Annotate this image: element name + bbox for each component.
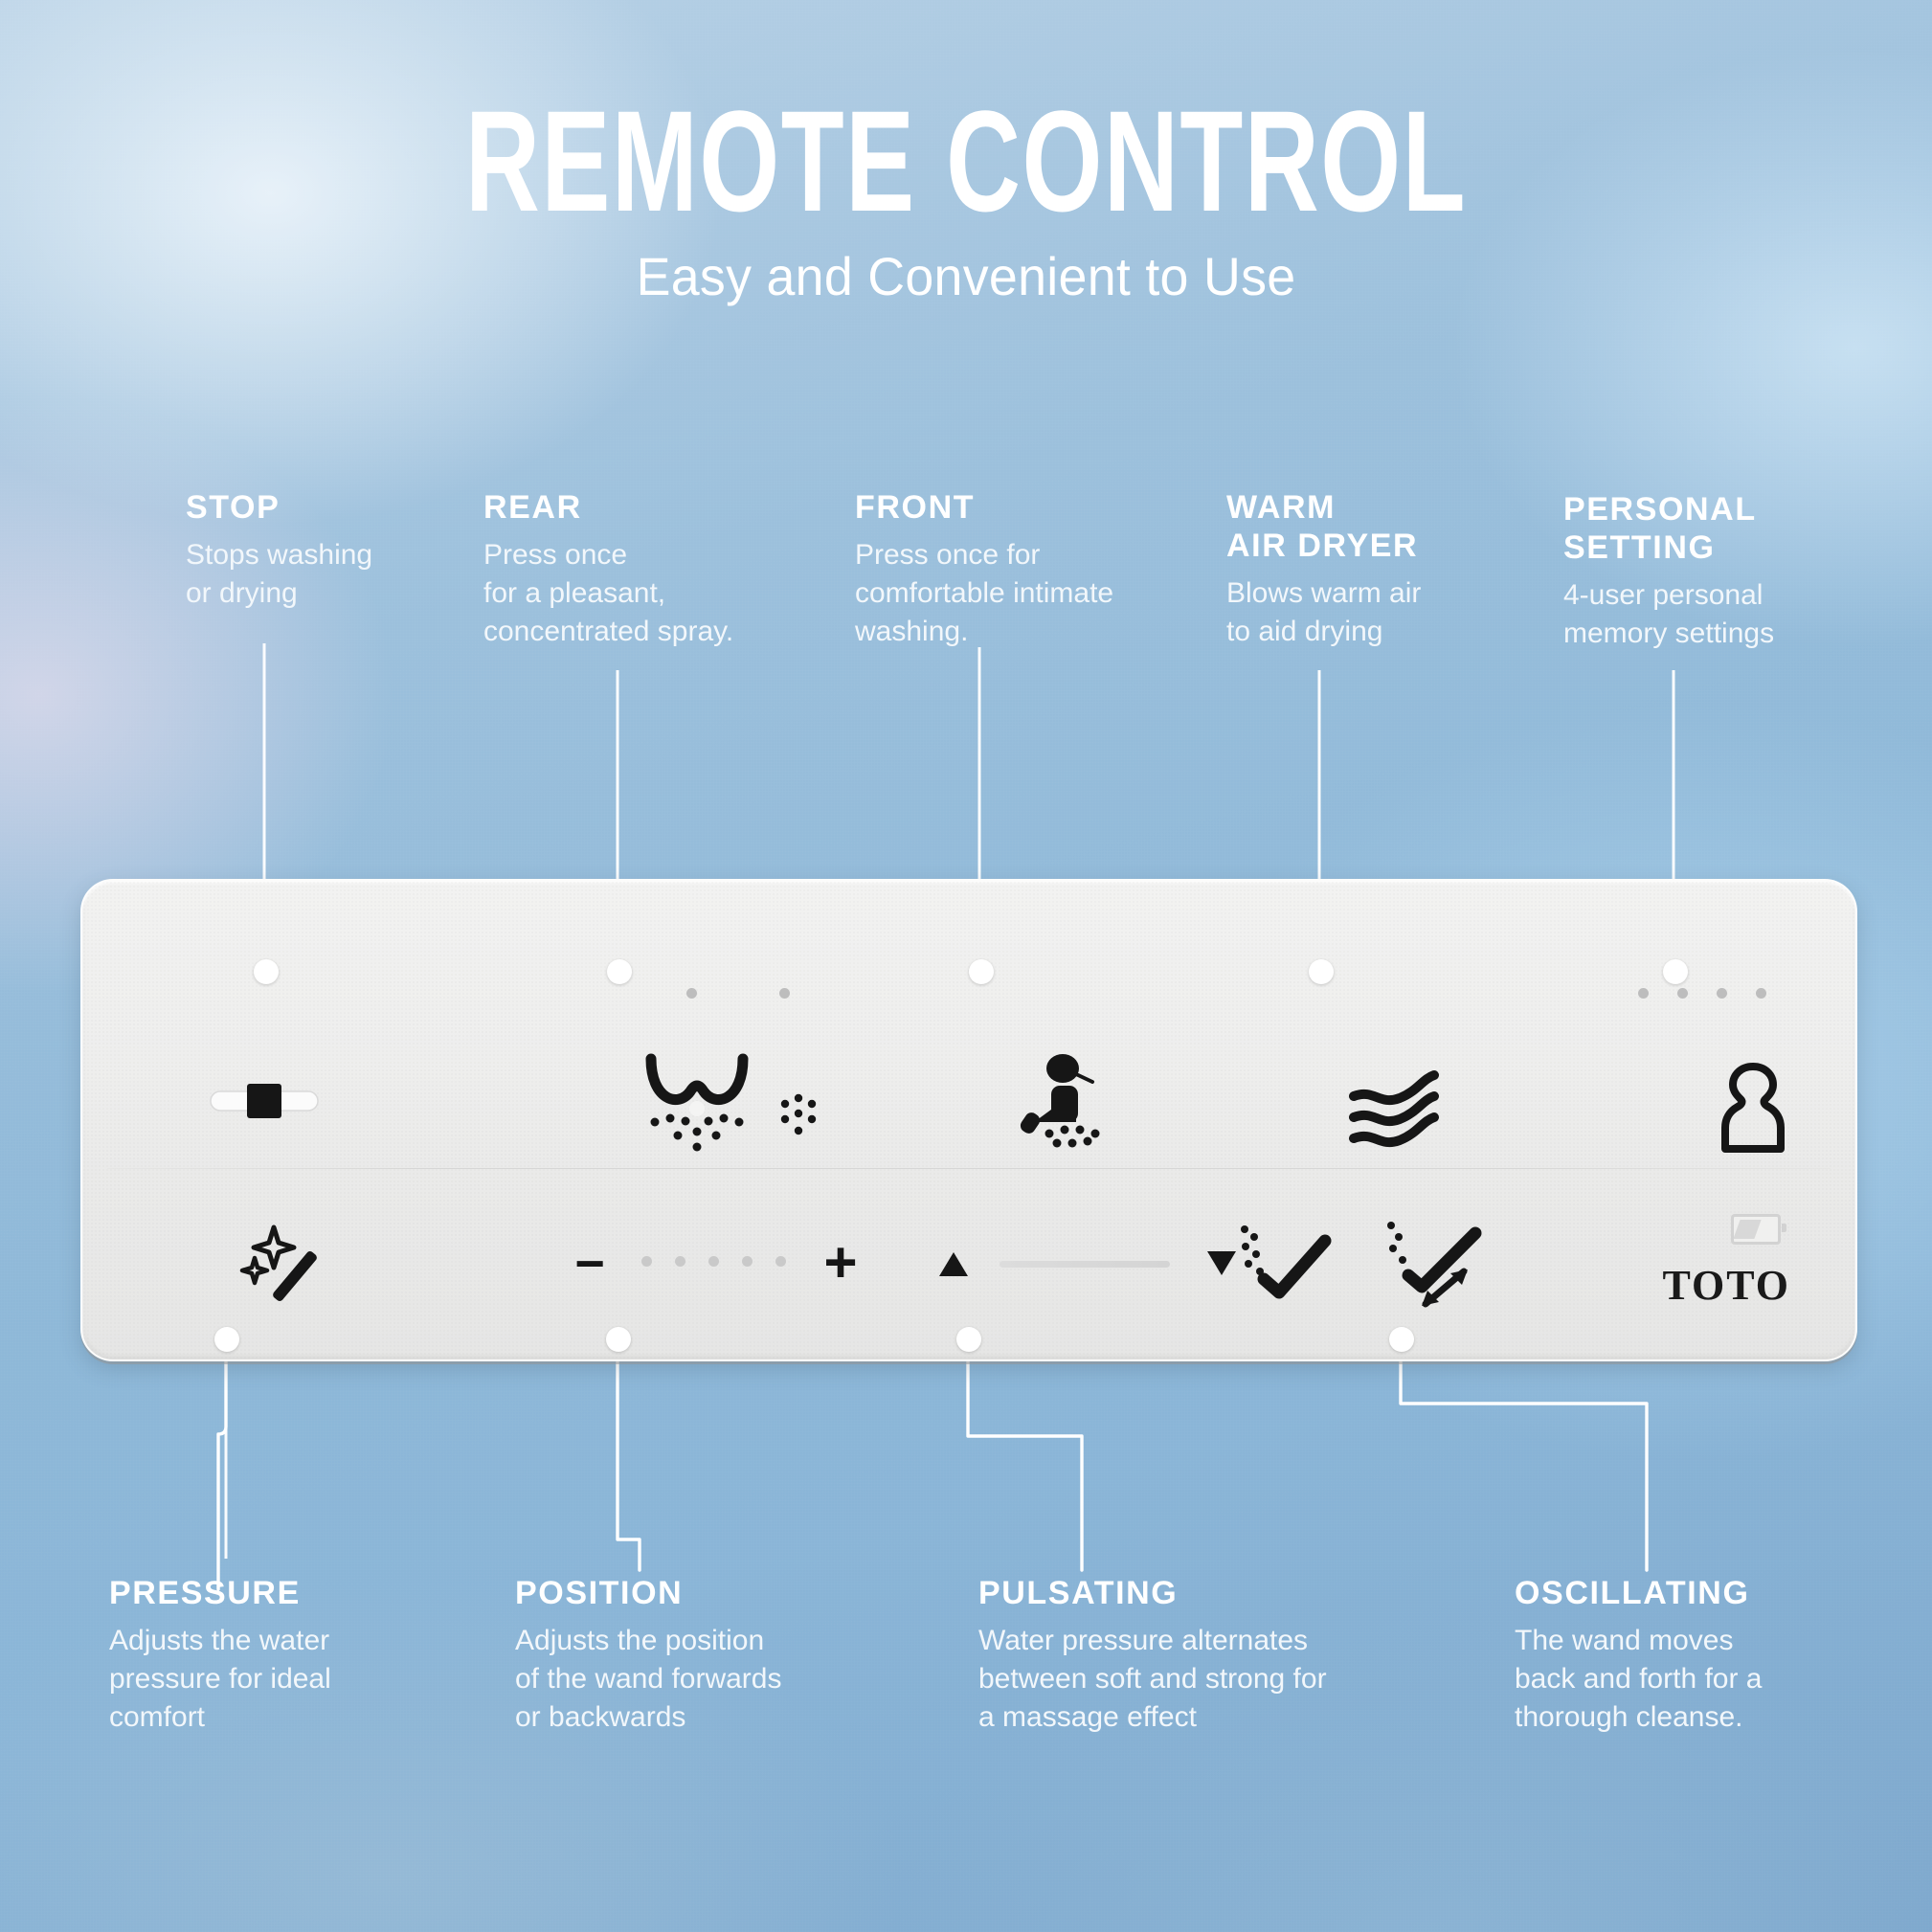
pressure-level-indicator <box>641 1256 786 1267</box>
hub-dot-oscillating <box>1389 1327 1414 1352</box>
pressure-dot-1 <box>641 1256 652 1267</box>
led-user-4 <box>1756 988 1766 999</box>
panel-texture <box>82 881 1855 1359</box>
callout-pressure: PRESSURE Adjusts the water pressure for … <box>109 1574 396 1737</box>
rear-wash-button[interactable] <box>630 1049 774 1155</box>
oscillating-wand-arrow-icon <box>1383 1220 1496 1308</box>
rear-wash-icon <box>640 1049 764 1155</box>
minus-icon: − <box>574 1238 605 1290</box>
callout-warm-air-dryer: WARM AIR DRYER Blows warm air to aid dry… <box>1226 488 1494 651</box>
stop-bar-icon <box>207 1076 322 1126</box>
pulsating-wand-icon <box>1237 1224 1342 1304</box>
callout-position-body: Adjusts the position of the wand forward… <box>515 1622 841 1737</box>
pulsating-button[interactable] <box>1227 1218 1352 1310</box>
stop-button[interactable] <box>197 1063 331 1139</box>
battery-icon <box>1731 1214 1781 1245</box>
page-header: REMOTE CONTROL Easy and Convenient to Us… <box>0 92 1932 307</box>
pressure-dot-4 <box>742 1256 753 1267</box>
hub-dot-personal-setting <box>1663 959 1688 984</box>
person-silhouette-icon <box>1712 1059 1794 1155</box>
hub-dot-warm-air-dryer <box>1309 959 1334 984</box>
callout-rear: REAR Press once for a pleasant, concentr… <box>483 488 790 651</box>
callout-oscillating-body: The wand moves back and forth for a thor… <box>1515 1622 1831 1737</box>
sparkle-wand-icon <box>239 1222 331 1306</box>
callout-position-heading: POSITION <box>515 1574 841 1612</box>
callout-pressure-heading: PRESSURE <box>109 1574 396 1612</box>
callout-warm-air-dryer-heading: WARM AIR DRYER <box>1226 488 1494 565</box>
callout-rear-body: Press once for a pleasant, concentrated … <box>483 536 790 651</box>
pressure-button[interactable] <box>228 1216 343 1312</box>
callout-warm-air-dryer-body: Blows warm air to aid drying <box>1226 574 1494 651</box>
hub-dot-stop <box>254 959 279 984</box>
pressure-dot-5 <box>775 1256 786 1267</box>
pressure-dot-2 <box>675 1256 685 1267</box>
callout-personal-setting: PERSONAL SETTING 4-user personal memory … <box>1563 490 1851 653</box>
brand-logo: TOTO <box>1662 1261 1790 1310</box>
led-rear <box>686 988 697 999</box>
pressure-decrease-button[interactable]: − <box>561 1237 618 1291</box>
pressure-dot-3 <box>708 1256 719 1267</box>
callout-pulsating: PULSATING Water pressure alternates betw… <box>978 1574 1361 1737</box>
callout-stop: STOP Stops washing or drying <box>186 488 435 613</box>
callout-personal-setting-body: 4-user personal memory settings <box>1563 576 1851 653</box>
led-group-personal-memory <box>1638 988 1766 999</box>
soft-spray-dots-icon <box>770 1089 827 1156</box>
plus-icon: + <box>823 1234 857 1292</box>
led-user-2 <box>1677 988 1688 999</box>
personal-setting-button[interactable] <box>1696 1055 1810 1158</box>
triangle-up-icon <box>937 1249 970 1278</box>
hub-dot-pulsating <box>956 1327 981 1352</box>
callout-front: FRONT Press once for comfortable intimat… <box>855 488 1180 651</box>
callout-front-heading: FRONT <box>855 488 1180 527</box>
hub-dot-position <box>606 1327 631 1352</box>
warm-air-dryer-button[interactable] <box>1337 1063 1471 1158</box>
callout-rear-heading: REAR <box>483 488 790 527</box>
front-wash-button[interactable] <box>992 1049 1135 1155</box>
callout-personal-setting-heading: PERSONAL SETTING <box>1563 490 1851 567</box>
page-subtitle: Easy and Convenient to Use <box>38 245 1893 307</box>
callout-pulsating-body: Water pressure alternates between soft a… <box>978 1622 1361 1737</box>
callout-pulsating-heading: PULSATING <box>978 1574 1361 1612</box>
led-rear-soft <box>779 988 790 999</box>
position-down-button[interactable] <box>1086 1243 1134 1285</box>
page-title: REMOTE CONTROL <box>271 92 1662 230</box>
oscillating-button[interactable] <box>1373 1216 1507 1312</box>
callout-stop-heading: STOP <box>186 488 435 527</box>
hub-dot-pressure <box>214 1327 239 1352</box>
hub-dot-rear <box>607 959 632 984</box>
pressure-increase-button[interactable]: + <box>812 1233 869 1292</box>
callout-position: POSITION Adjusts the position of the wan… <box>515 1574 841 1737</box>
led-user-1 <box>1638 988 1649 999</box>
callout-oscillating: OSCILLATING The wand moves back and fort… <box>1515 1574 1831 1737</box>
position-slider-track[interactable] <box>1000 1261 1170 1268</box>
callout-oscillating-heading: OSCILLATING <box>1515 1574 1831 1612</box>
led-group-wash <box>686 988 790 999</box>
front-wash-seated-person-icon <box>1001 1049 1126 1155</box>
callout-pressure-body: Adjusts the water pressure for ideal com… <box>109 1622 396 1737</box>
air-waves-icon <box>1346 1067 1461 1154</box>
position-up-button[interactable] <box>930 1243 977 1285</box>
remote-control-panel: − + <box>80 879 1857 1361</box>
panel-divider <box>107 1168 1831 1169</box>
rear-soft-wash-button[interactable] <box>765 1084 832 1160</box>
led-user-3 <box>1717 988 1727 999</box>
callout-stop-body: Stops washing or drying <box>186 536 435 613</box>
callout-front-body: Press once for comfortable intimate wash… <box>855 536 1180 651</box>
hub-dot-front <box>969 959 994 984</box>
